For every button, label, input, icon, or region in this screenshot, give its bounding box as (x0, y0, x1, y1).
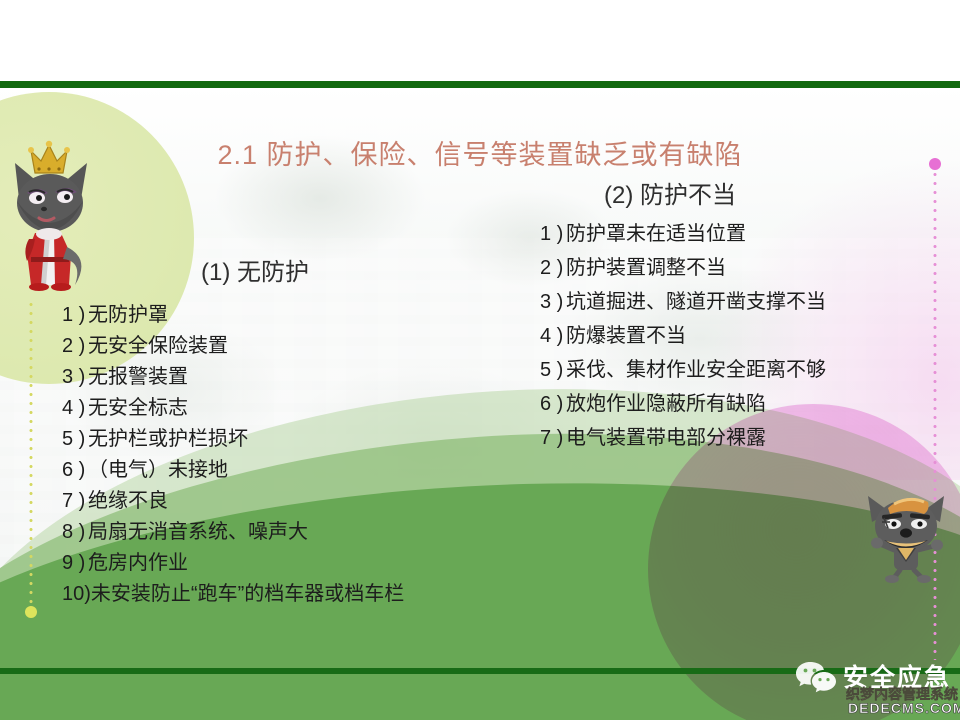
list-item: 8 ) 局扇无消音系统、噪声大 (62, 522, 502, 542)
list-item-number: 6 ) (540, 394, 566, 414)
list-item: 7 ) 电气装置带电部分裸露 (540, 428, 940, 448)
list-item: 7 ) 绝缘不良 (62, 491, 502, 511)
list-item-text: 防护罩未在适当位置 (566, 224, 746, 244)
list-item-number: 8 ) (62, 522, 88, 542)
top-white-margin (0, 0, 960, 81)
list-item-text: 电气装置带电部分裸露 (566, 428, 766, 448)
list-item-number: 2 ) (540, 258, 566, 278)
list-item-number: 7 ) (540, 428, 566, 448)
list-item-number: 1 ) (62, 305, 88, 325)
wolf-mascot-icon (860, 488, 952, 583)
list-item: 5 ) 无护栏或护栏损坏 (62, 429, 502, 449)
list-item-text: 局扇无消音系统、噪声大 (88, 522, 308, 542)
list-item-text: 坑道掘进、隧道开凿支撑不当 (566, 292, 826, 312)
list-item-number: 6 ) (62, 460, 88, 480)
list-item-text: 防护装置调整不当 (566, 258, 726, 278)
list-item-text: 采伐、集材作业安全距离不够 (566, 360, 826, 380)
dotted-line-left (29, 300, 33, 612)
list-item-number: 3 ) (540, 292, 566, 312)
list-item: 4 ) 防爆装置不当 (540, 326, 940, 346)
list-item-number: 9 ) (62, 553, 88, 573)
list-item-text: 危房内作业 (88, 553, 188, 573)
list-item-number: 1 ) (540, 224, 566, 244)
list-item-text: 无护栏或护栏损坏 (88, 429, 248, 449)
list-item-number: 10) (62, 584, 91, 604)
wechat-icon (795, 660, 837, 696)
list-item: 3 ) 无报警装置 (62, 367, 502, 387)
list-item: 1 ) 无防护罩 (62, 305, 502, 325)
list-item-text: （电气）未接地 (88, 460, 228, 480)
list-item: 1 ) 防护罩未在适当位置 (540, 224, 940, 244)
watermark-cms-en: DEDECMS.COM (848, 700, 960, 716)
right-section-heading: (2) 防护不当 (520, 175, 820, 210)
list-item-text: 绝缘不良 (88, 491, 168, 511)
list-item: 2 ) 防护装置调整不当 (540, 258, 940, 278)
list-item-text: 无报警装置 (88, 367, 188, 387)
slide-title: 2.1 防护、保险、信号等装置缺乏或有缺陷 (0, 133, 960, 172)
list-item: 3 ) 坑道掘进、隧道开凿支撑不当 (540, 292, 940, 312)
dotted-line-left-cap (25, 606, 37, 618)
list-item-number: 5 ) (540, 360, 566, 380)
list-item-number: 2 ) (62, 336, 88, 356)
list-item-number: 4 ) (540, 326, 566, 346)
list-item: 9 ) 危房内作业 (62, 553, 502, 573)
list-item-number: 3 ) (62, 367, 88, 387)
list-item: 2 ) 无安全保险装置 (62, 336, 502, 356)
list-item-text: 无安全保险装置 (88, 336, 228, 356)
list-item-text: 无防护罩 (88, 305, 168, 325)
top-green-rule (0, 81, 960, 88)
list-item-text: 未安装防止“跑车”的档车器或档车栏 (91, 584, 404, 604)
list-item-number: 7 ) (62, 491, 88, 511)
list-item: 4 ) 无安全标志 (62, 398, 502, 418)
list-item-text: 放炮作业隐蔽所有缺陷 (566, 394, 766, 414)
left-list: 1 ) 无防护罩 2 ) 无安全保险装置 3 ) 无报警装置 4 ) 无安全标志… (62, 305, 502, 615)
right-list: 1 ) 防护罩未在适当位置 2 ) 防护装置调整不当 3 ) 坑道掘进、隧道开凿… (540, 224, 940, 462)
list-item: 6 ) 放炮作业隐蔽所有缺陷 (540, 394, 940, 414)
list-item-text: 无安全标志 (88, 398, 188, 418)
list-item-text: 防爆装置不当 (566, 326, 686, 346)
list-item-number: 5 ) (62, 429, 88, 449)
left-section-heading: (1) 无防护 (95, 252, 415, 287)
list-item-number: 4 ) (62, 398, 88, 418)
list-item: 5 ) 采伐、集材作业安全距离不够 (540, 360, 940, 380)
slide-canvas: 2.1 防护、保险、信号等装置缺乏或有缺陷 (2) 防护不当 (1) 无防护 1… (0, 0, 960, 720)
list-item: 10) 未安装防止“跑车”的档车器或档车栏 (62, 584, 502, 604)
list-item: 6 ) （电气）未接地 (62, 460, 502, 480)
